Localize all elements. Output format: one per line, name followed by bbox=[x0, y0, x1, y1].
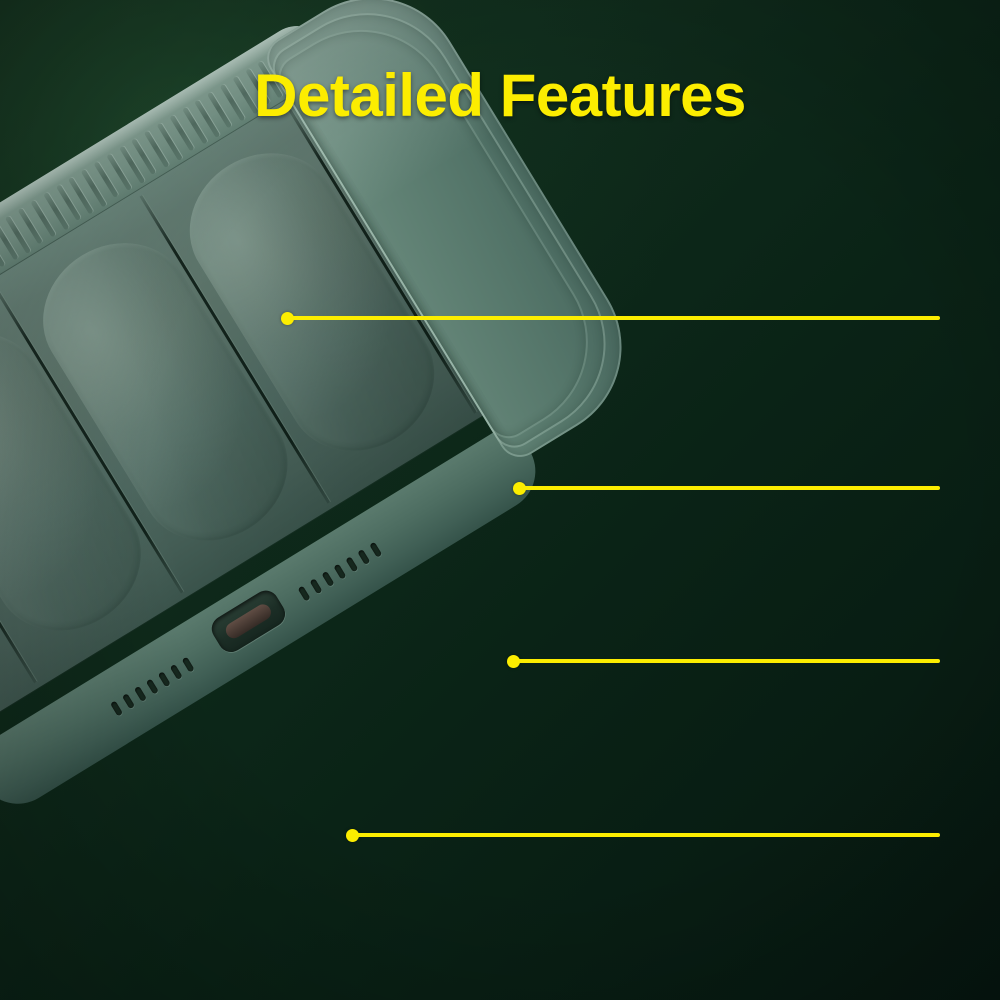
callout-leader-line bbox=[519, 486, 940, 490]
callout-leader-line bbox=[287, 316, 940, 320]
callout-leader-line bbox=[513, 659, 940, 663]
page-title: Detailed Features bbox=[0, 66, 1000, 126]
background-vignette bbox=[0, 0, 1000, 1000]
infographic-canvas: Detailed Features Superior GripRaised Si… bbox=[0, 0, 1000, 1000]
callout-leader-line bbox=[352, 833, 940, 837]
